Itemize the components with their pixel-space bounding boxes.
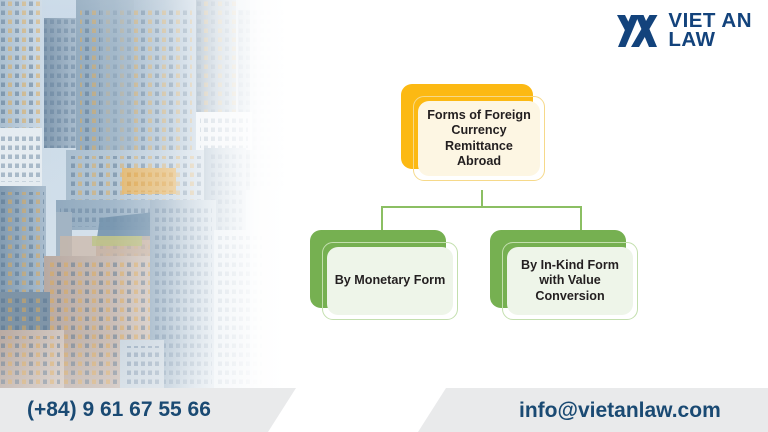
connector-right-branch	[580, 206, 582, 230]
connector-horizontal-bar	[381, 206, 582, 208]
node-root[interactable]: Forms of Foreign Currency Remittance Abr…	[401, 84, 551, 188]
connector-root-vertical	[481, 190, 483, 207]
connector-left-branch	[381, 206, 383, 230]
phone-number[interactable]: (+84) 9 61 67 55 66	[27, 398, 211, 422]
node-child-in-kind-form[interactable]: By In-Kind Form with Value Conversion	[490, 230, 644, 327]
node-child-in-kind-form-label: By In-Kind Form with Value Conversion	[507, 258, 633, 304]
node-child-monetary-form[interactable]: By Monetary Form	[310, 230, 464, 327]
email-address[interactable]: info@vietanlaw.com	[519, 399, 721, 423]
contact-footer: (+84) 9 61 67 55 66 info@vietanlaw.com	[0, 388, 768, 432]
node-child-in-kind-form-card: By In-Kind Form with Value Conversion	[507, 247, 633, 315]
node-child-monetary-form-card: By Monetary Form	[327, 247, 453, 315]
node-root-card: Forms of Foreign Currency Remittance Abr…	[418, 101, 540, 176]
slide-canvas: VIET AN LAW Forms of Foreign Currency Re…	[0, 0, 768, 432]
org-chart-diagram: Forms of Foreign Currency Remittance Abr…	[0, 0, 768, 432]
node-root-label: Forms of Foreign Currency Remittance Abr…	[418, 108, 540, 170]
node-child-monetary-form-label: By Monetary Form	[329, 273, 452, 288]
